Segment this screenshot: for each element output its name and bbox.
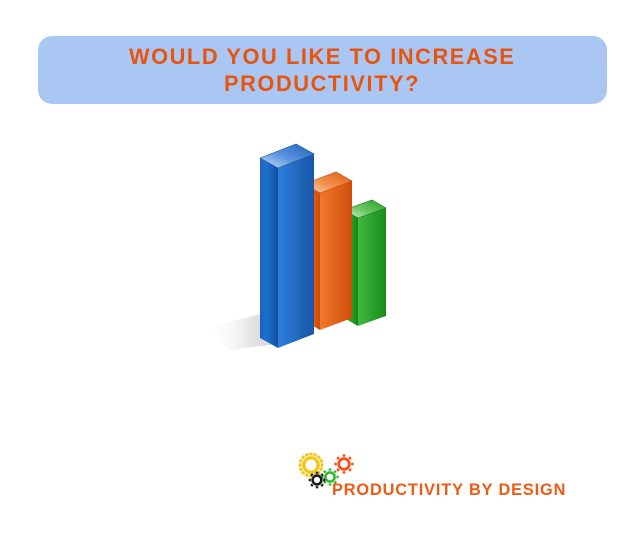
title-line-2: PRODUCTIVITY? (224, 70, 420, 97)
title-banner: WOULD YOU LIKE TO INCREASE PRODUCTIVITY? (38, 36, 607, 104)
title-line-1: WOULD YOU LIKE TO INCREASE (129, 43, 515, 70)
gear-orange-icon (334, 454, 353, 473)
gear-yellow-icon (299, 453, 324, 478)
bar-blue (260, 144, 314, 348)
slide-canvas: WOULD YOU LIKE TO INCREASE PRODUCTIVITY? (0, 0, 640, 537)
logo-wordmark: PRODUCTIVITY BY DESIGN (332, 480, 566, 500)
gear-black-icon (309, 472, 326, 489)
company-logo: PRODUCTIVITY BY DESIGN (296, 452, 596, 507)
bar-chart-graphic (196, 140, 406, 365)
